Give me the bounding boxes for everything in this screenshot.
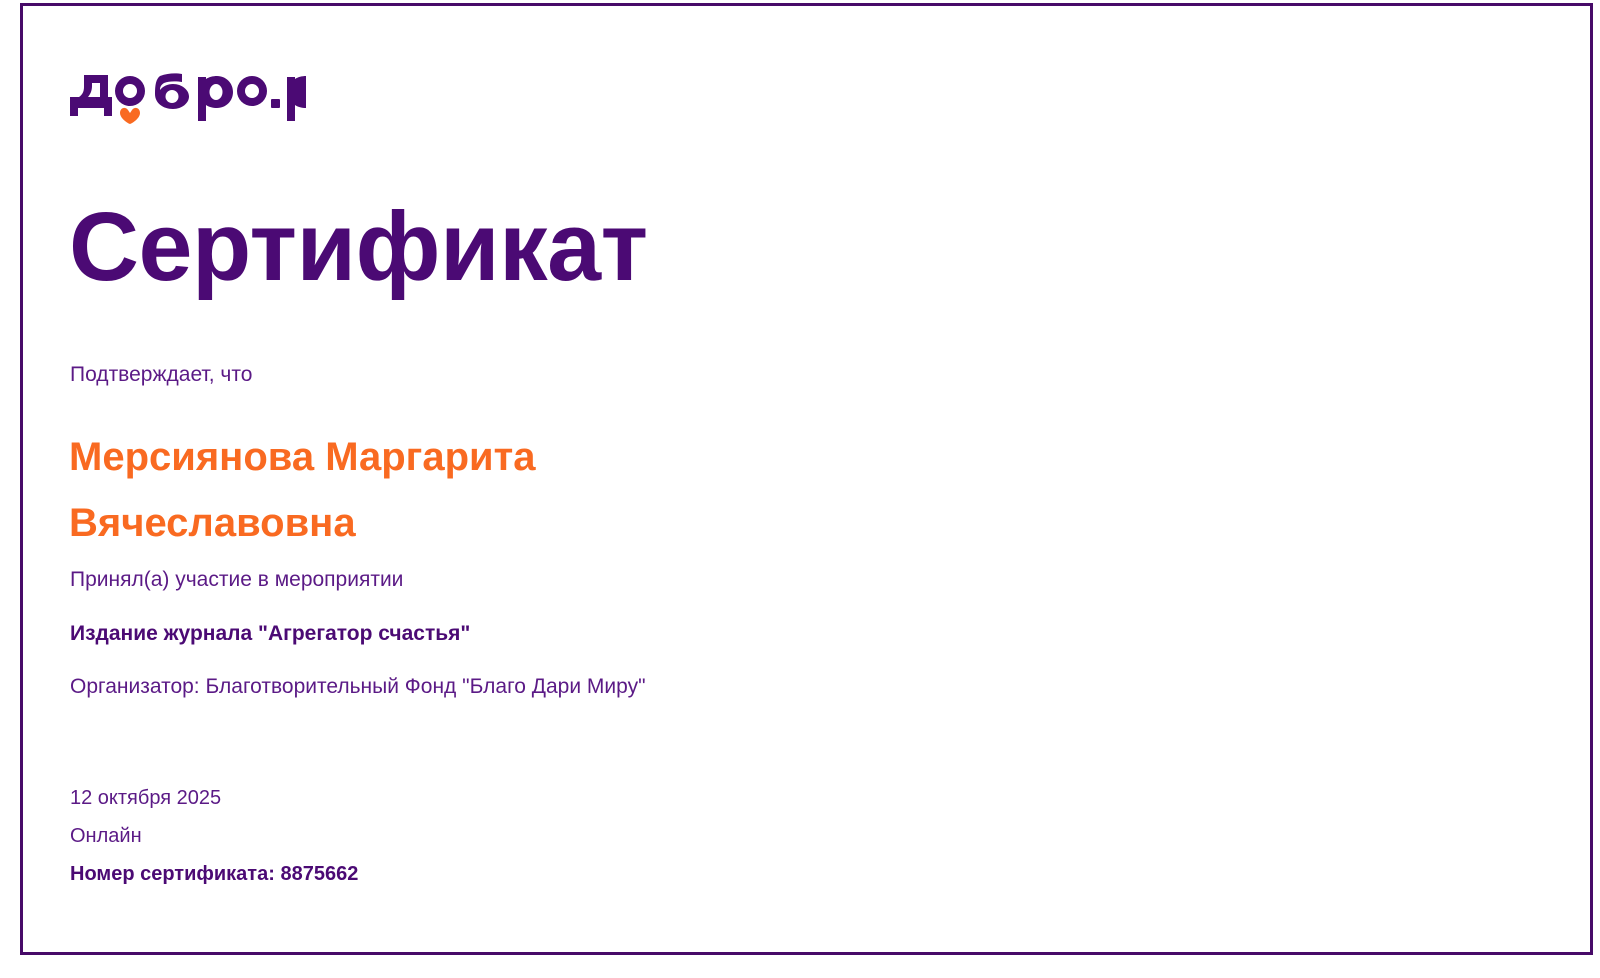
participation-label: Принял(а) участие в мероприятии — [70, 566, 403, 593]
certificate-content: Сертификат Подтверждает, что Мерсиянова … — [23, 6, 1590, 952]
event-name: Издание журнала "Агрегатор счастья" — [70, 620, 470, 647]
certificate-number-label: Номер сертификата: — [70, 863, 275, 885]
dobro-rf-logo-svg — [68, 61, 308, 127]
certificate-meta: 12 октября 2025 Онлайн Номер сертификата… — [70, 786, 358, 886]
heart-smile-icon — [120, 108, 140, 124]
logo-wordmark-icon — [70, 73, 306, 121]
certificate-location: Онлайн — [70, 824, 358, 848]
certificate-date: 12 октября 2025 — [70, 786, 358, 810]
confirms-that-label: Подтверждает, что — [70, 361, 252, 388]
certificate-page: Сертификат Подтверждает, что Мерсиянова … — [0, 0, 1600, 978]
certificate-title: Сертификат — [69, 196, 648, 298]
organizer-line: Организатор: Благотворительный Фонд "Бла… — [70, 673, 646, 700]
recipient-name: Мерсиянова Маргарита Вячеславовна — [69, 424, 769, 556]
certificate-border: Сертификат Подтверждает, что Мерсиянова … — [20, 3, 1593, 955]
certificate-number-value: 8875662 — [280, 863, 358, 885]
dobro-rf-logo[interactable] — [68, 61, 308, 127]
certificate-number: Номер сертификата: 8875662 — [70, 862, 358, 886]
